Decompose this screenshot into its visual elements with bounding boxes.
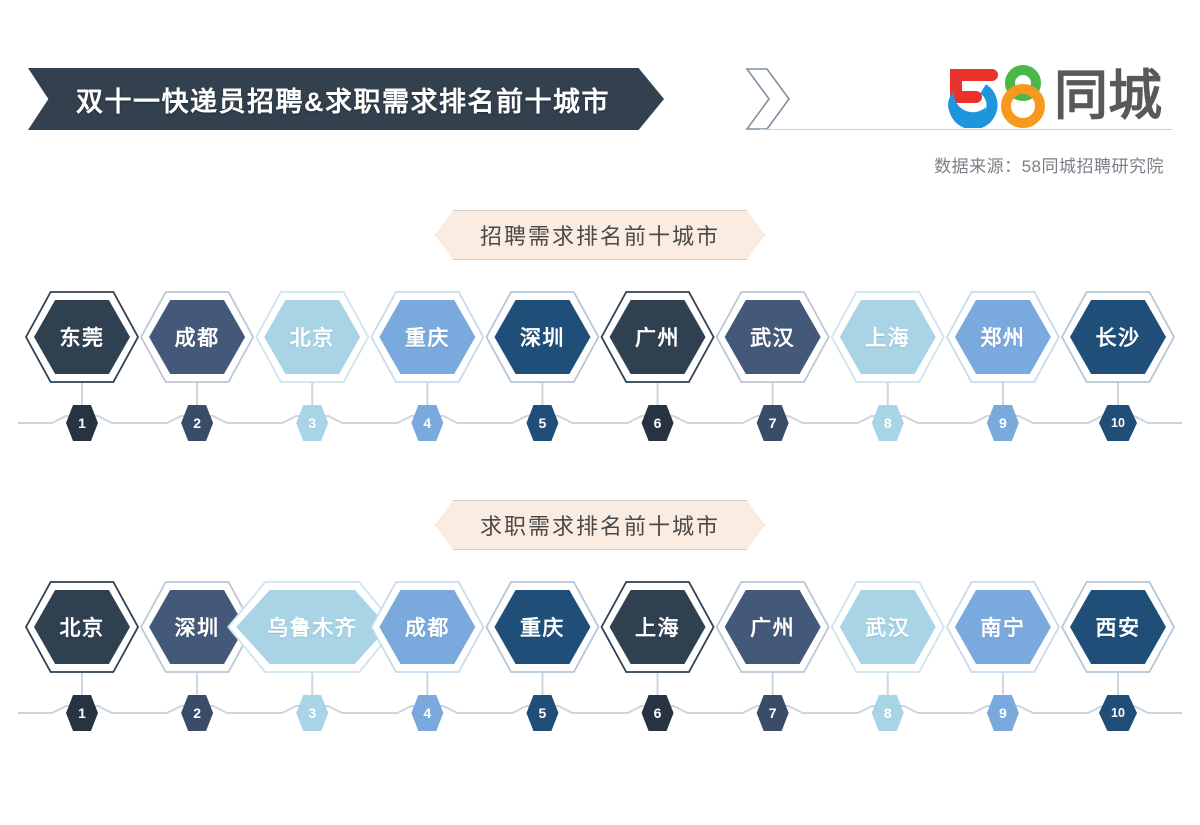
rank-number-badge	[757, 405, 789, 441]
logo-wordmark: 同城	[1054, 66, 1162, 126]
rank-number-badge	[411, 405, 443, 441]
section-jobseeking: 求职需求排名前十城市 北京1深圳2乌鲁木齐3成都4重庆5上海6广州7武汉8南宁9…	[0, 500, 1200, 760]
rank-item[interactable]	[371, 292, 483, 441]
rank-number-badge	[642, 405, 674, 441]
rank-number-badge	[296, 695, 328, 731]
title-banner: 双十一快递员招聘&求职需求排名前十城市	[28, 68, 664, 130]
rank-number-badge	[526, 695, 558, 731]
section-heading-jobseeking: 求职需求排名前十城市	[435, 500, 765, 550]
rank-row-graphic	[0, 285, 1200, 470]
rank-number-badge	[181, 405, 213, 441]
data-source-note: 数据来源：58同城招聘研究院	[934, 152, 1164, 177]
title-chevron-outline-icon	[745, 68, 791, 130]
rank-item[interactable]	[371, 582, 483, 731]
section-heading-recruitment: 招聘需求排名前十城市	[435, 210, 765, 260]
rank-item[interactable]	[717, 582, 829, 731]
rank-number-badge	[1099, 405, 1137, 441]
rank-number-badge	[66, 695, 98, 731]
rank-number-badge	[872, 695, 904, 731]
rank-item[interactable]	[26, 292, 138, 441]
rank-number-badge	[872, 405, 904, 441]
logo-58-tongcheng: 同城	[942, 62, 1166, 130]
title-banner-wrap: 双十一快递员招聘&求职需求排名前十城市	[28, 68, 664, 130]
rank-number-badge	[411, 695, 443, 731]
rank-item[interactable]	[602, 582, 714, 731]
rank-row-graphic	[0, 575, 1200, 760]
rank-number-badge	[757, 695, 789, 731]
rank-row-recruitment: 东莞1成都2北京3重庆4深圳5广州6武汉7上海8郑州9长沙10	[0, 285, 1200, 470]
rank-number-badge	[181, 695, 213, 731]
rank-item[interactable]	[717, 292, 829, 441]
rank-item[interactable]	[947, 582, 1059, 731]
rank-item[interactable]	[1062, 582, 1174, 731]
rank-item[interactable]	[832, 292, 944, 441]
rank-item[interactable]	[1062, 292, 1174, 441]
infographic-page: 双十一快递员招聘&求职需求排名前十城市 同城 数据来源：58同城招聘研究院	[0, 0, 1200, 825]
rank-item[interactable]	[602, 292, 714, 441]
section-heading-label: 招聘需求排名前十城市	[480, 219, 720, 251]
section-heading-label: 求职需求排名前十城市	[480, 509, 720, 541]
rank-number-badge	[642, 695, 674, 731]
rank-item[interactable]	[141, 292, 253, 441]
header: 双十一快递员招聘&求职需求排名前十城市 同城 数据来源：58同城招聘研究院	[0, 0, 1200, 200]
page-title: 双十一快递员招聘&求职需求排名前十城市	[76, 80, 610, 119]
rank-item[interactable]	[832, 582, 944, 731]
rank-row-jobseeking: 北京1深圳2乌鲁木齐3成都4重庆5上海6广州7武汉8南宁9西安10	[0, 575, 1200, 760]
rank-number-badge	[526, 405, 558, 441]
rank-item[interactable]	[947, 292, 1059, 441]
rank-item[interactable]	[486, 292, 598, 441]
rank-item[interactable]	[228, 582, 396, 731]
rank-number-badge	[987, 695, 1019, 731]
rank-number-badge	[66, 405, 98, 441]
rank-number-badge	[1099, 695, 1137, 731]
rank-item[interactable]	[141, 582, 253, 731]
rank-item[interactable]	[486, 582, 598, 731]
rank-number-badge	[987, 405, 1019, 441]
rank-number-badge	[296, 405, 328, 441]
logo-svg: 同城	[942, 64, 1166, 128]
rank-item[interactable]	[256, 292, 368, 441]
rank-item[interactable]	[26, 582, 138, 731]
section-recruitment: 招聘需求排名前十城市 东莞1成都2北京3重庆4深圳5广州6武汉7上海8郑州9长沙…	[0, 210, 1200, 470]
